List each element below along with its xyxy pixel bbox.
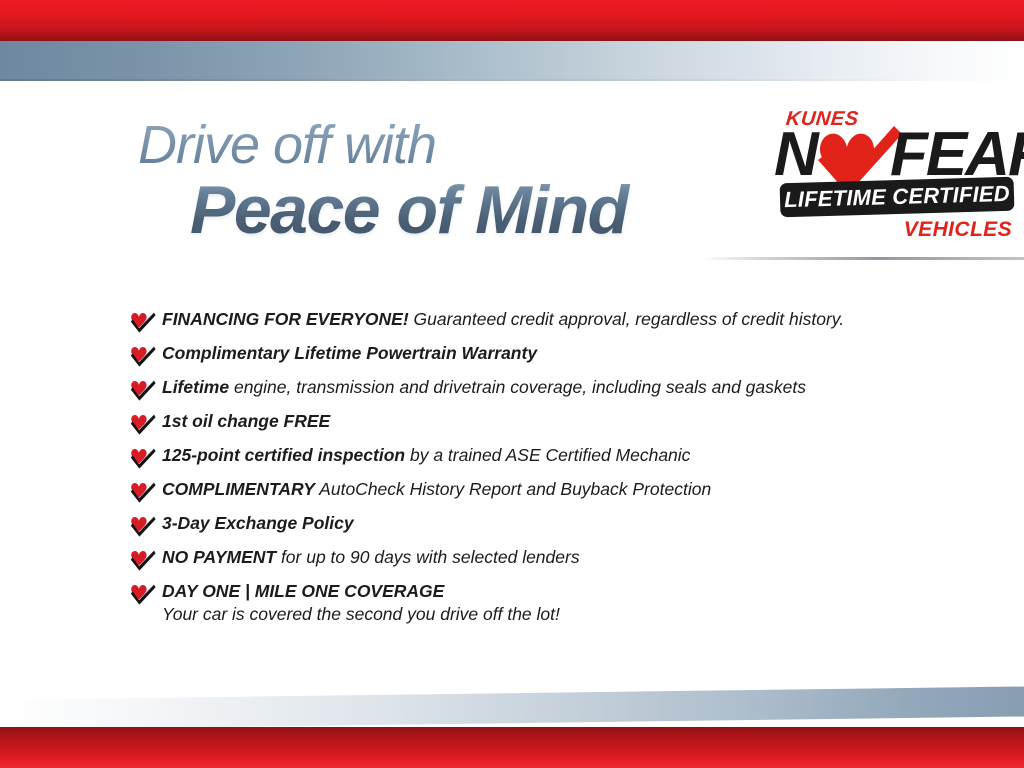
logo-certified-banner-text: LIFETIME CERTIFIED: [780, 177, 1015, 218]
list-item-text: 125-point certified inspection by a trai…: [162, 444, 690, 466]
list-item: COMPLIMENTARY AutoCheck History Report a…: [130, 478, 930, 503]
list-item-text: DAY ONE | MILE ONE COVERAGE: [162, 580, 560, 602]
list-item-text: NO PAYMENT for up to 90 days with select…: [162, 546, 580, 568]
promo-poster: Drive off with Peace of Mind KUNES N FEA…: [0, 0, 1024, 768]
top-slate-band: [0, 41, 1024, 81]
logo-letter-n: N: [774, 126, 817, 184]
list-item-detail: by a trained ASE Certified Mechanic: [405, 445, 690, 465]
bottom-slate-band: [0, 686, 1024, 730]
list-item-detail: for up to 90 days with selected lenders: [276, 547, 580, 567]
headline: Drive off with Peace of Mind: [138, 118, 738, 246]
check-icon: [130, 345, 156, 367]
bottom-red-band: [0, 727, 1024, 768]
check-icon: [130, 447, 156, 469]
list-item-strong: FINANCING FOR EVERYONE!: [162, 309, 409, 329]
header-divider: [700, 257, 1024, 260]
list-item-strong: NO PAYMENT: [162, 547, 276, 567]
list-item: 125-point certified inspection by a trai…: [130, 444, 930, 469]
list-item-text: 3-Day Exchange Policy: [162, 512, 354, 534]
headline-line-1: Drive off with: [138, 118, 738, 172]
list-item-detail: Guaranteed credit approval, regardless o…: [409, 309, 844, 329]
list-item: Lifetime engine, transmission and drivet…: [130, 376, 930, 401]
check-icon: [130, 413, 156, 435]
check-icon: [130, 583, 156, 605]
list-item-strong: 1st oil change FREE: [162, 411, 330, 431]
list-item: NO PAYMENT for up to 90 days with select…: [130, 546, 930, 571]
list-item-text: COMPLIMENTARY AutoCheck History Report a…: [162, 478, 711, 500]
list-item-strong: 3-Day Exchange Policy: [162, 513, 354, 533]
list-item: 1st oil change FREE: [130, 410, 930, 435]
list-item-strong: DAY ONE | MILE ONE COVERAGE: [162, 581, 444, 601]
list-item-strong: COMPLIMENTARY: [162, 479, 315, 499]
check-icon: [130, 515, 156, 537]
list-item: DAY ONE | MILE ONE COVERAGEYour car is c…: [130, 580, 930, 625]
logo-word-vehicles: VEHICLES: [904, 218, 1012, 242]
list-item-text: FINANCING FOR EVERYONE! Guaranteed credi…: [162, 308, 844, 330]
list-item-text: 1st oil change FREE: [162, 410, 330, 432]
list-item: Complimentary Lifetime Powertrain Warran…: [130, 342, 930, 367]
list-item-subtext: Your car is covered the second you drive…: [162, 603, 560, 625]
benefits-list: FINANCING FOR EVERYONE! Guaranteed credi…: [130, 308, 930, 634]
check-icon: [130, 549, 156, 571]
check-icon: [130, 379, 156, 401]
headline-line-2: Peace of Mind: [190, 174, 738, 246]
check-icon: [130, 311, 156, 333]
list-item-detail: AutoCheck History Report and Buyback Pro…: [315, 479, 711, 499]
list-item: 3-Day Exchange Policy: [130, 512, 930, 537]
top-red-band: [0, 0, 1024, 41]
list-item-strong: 125-point certified inspection: [162, 445, 405, 465]
list-item-detail: engine, transmission and drivetrain cove…: [229, 377, 806, 397]
list-item: FINANCING FOR EVERYONE! Guaranteed credi…: [130, 308, 930, 333]
list-item-text: Lifetime engine, transmission and drivet…: [162, 376, 806, 398]
list-item-strong: Lifetime: [162, 377, 229, 397]
logo-word-fear: FEAR: [890, 126, 1024, 184]
list-item-strong: Complimentary Lifetime Powertrain Warran…: [162, 343, 537, 363]
logo-certified-banner: LIFETIME CERTIFIED: [780, 177, 1015, 218]
check-icon: [130, 481, 156, 503]
list-item-text: Complimentary Lifetime Powertrain Warran…: [162, 342, 537, 364]
kunes-no-fear-logo: KUNES N FEAR LIFETIME CERTIFIED VEHICLES: [772, 108, 1016, 246]
